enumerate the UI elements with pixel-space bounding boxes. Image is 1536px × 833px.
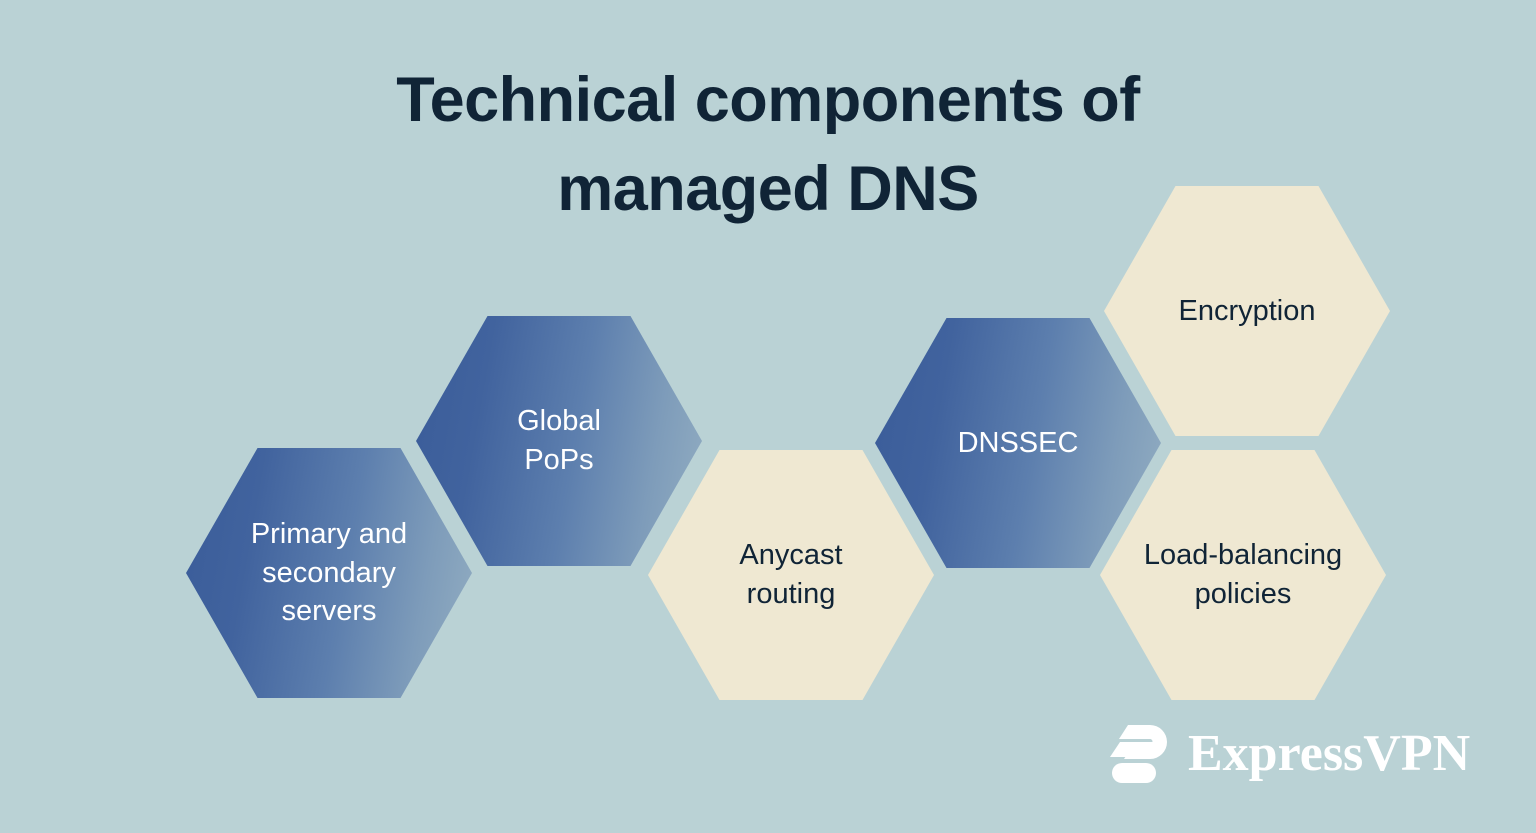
hexagon-primary-secondary-servers: Primary and secondary servers [186,448,472,698]
hexagon-label-dnssec: DNSSEC [923,424,1112,463]
hexagon-load-balancing-policies: Load-balancing policies [1100,450,1386,700]
hexagon-label-global-pops: Global PoPs [471,402,646,479]
hexagon-dnssec: DNSSEC [875,318,1161,568]
expressvpn-wordmark: ExpressVPN [1188,728,1470,780]
hexagon-label-primary-secondary-servers: Primary and secondary servers [211,515,447,631]
hexagon-label-load-balancing-policies: Load-balancing policies [1121,536,1365,613]
hexagon-global-pops: Global PoPs [416,316,702,566]
page-title-line-1: Technical components of [0,56,1536,145]
hexagon-anycast-routing: Anycast routing [648,450,934,700]
expressvpn-logo: ExpressVPN [1098,723,1470,785]
hexagon-label-anycast-routing: Anycast routing [699,536,882,613]
hexagon-label-encryption: Encryption [1150,292,1344,331]
infographic-canvas: Technical components of managed DNS Prim… [0,0,1536,833]
expressvpn-e-mark-icon [1098,723,1170,785]
